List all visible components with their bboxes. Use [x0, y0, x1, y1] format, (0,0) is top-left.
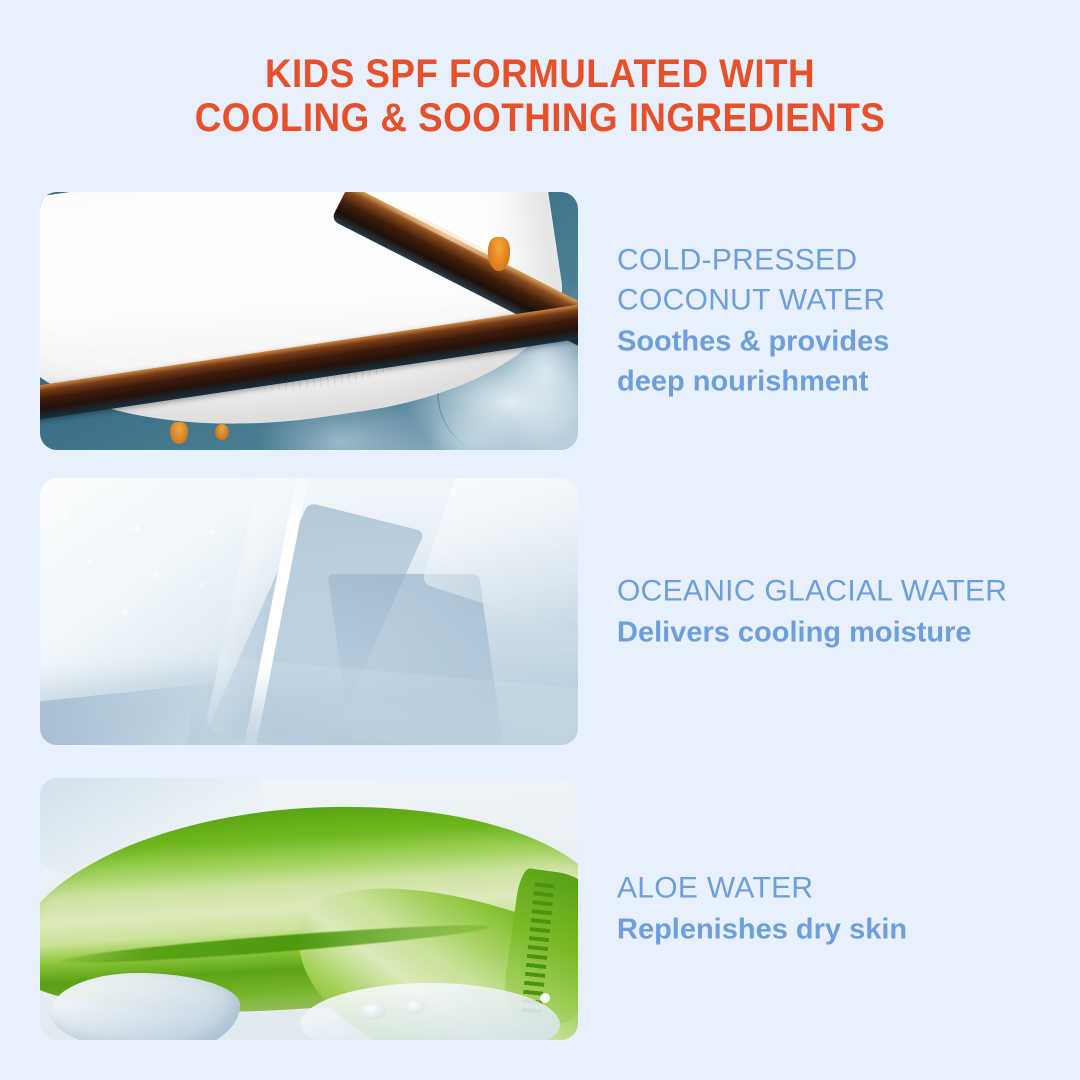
- aloe-leaf-photo: [40, 778, 578, 1040]
- headline-line-2: COOLING & SOOTHING INGREDIENTS: [43, 96, 1037, 140]
- headline-line-1: KIDS SPF FORMULATED WITH: [43, 52, 1037, 96]
- coconut-amber-drip-c: [215, 424, 229, 440]
- ingredient-description: Replenishes dry skin: [617, 910, 1040, 950]
- aloe-water-droplet-b: [405, 1000, 425, 1014]
- ingredient-description: Soothes & provides deep nourishment: [617, 322, 1040, 402]
- ingredient-title: ALOE WATER: [617, 869, 1040, 909]
- coconut-amber-drip-b: [170, 422, 188, 444]
- aloe-water-droplet-c: [540, 993, 550, 1003]
- ingredient-row-coconut: COLD-PRESSED COCONUT WATER Soothes & pro…: [40, 192, 1040, 450]
- ingredient-row-glacial-water: OCEANIC GLACIAL WATER Delivers cooling m…: [40, 478, 1040, 745]
- coconut-photo: [40, 192, 578, 450]
- ingredient-row-aloe: ALOE WATER Replenishes dry skin: [40, 778, 1040, 1040]
- coconut-amber-drip-a: [488, 237, 510, 271]
- ingredient-description: Delivers cooling moisture: [617, 612, 1040, 652]
- ingredient-text-coconut: COLD-PRESSED COCONUT WATER Soothes & pro…: [617, 241, 1040, 402]
- ice-cubes-photo: [40, 478, 578, 745]
- ingredient-text-glacial-water: OCEANIC GLACIAL WATER Delivers cooling m…: [617, 571, 1040, 652]
- ingredient-title: OCEANIC GLACIAL WATER: [617, 571, 1040, 611]
- page-headline: KIDS SPF FORMULATED WITH COOLING & SOOTH…: [43, 52, 1037, 140]
- ingredient-text-aloe: ALOE WATER Replenishes dry skin: [617, 869, 1040, 950]
- aloe-water-droplet-a: [360, 1003, 386, 1019]
- ingredient-title: COLD-PRESSED COCONUT WATER: [617, 241, 1040, 321]
- aloe-ice-bottom-left: [50, 973, 240, 1040]
